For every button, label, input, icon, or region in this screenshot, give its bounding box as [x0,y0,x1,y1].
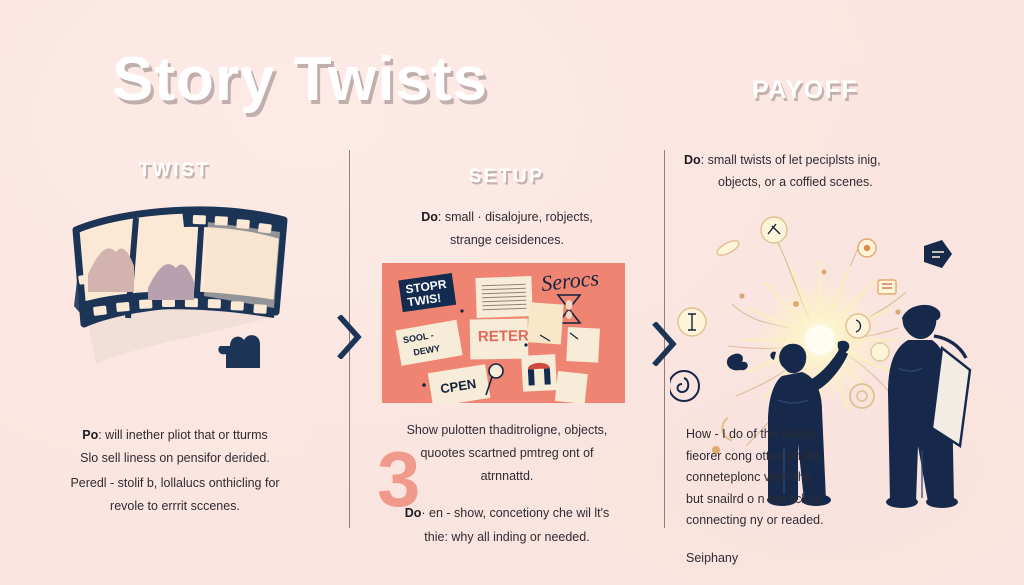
svg-text:RETER: RETER [478,327,529,345]
payoff-line-4: but snailrd o n the sclurs [686,492,822,506]
infographic-poster: Story Twists PAYOFF TWIST [0,0,1024,585]
twist-line-3: Peredl - stolif b, lollalucs onthicling … [20,472,330,495]
column-header-twist: TWIST [0,160,349,182]
twist-body-text: Po: will inether pliot that or tturms Sl… [20,424,330,519]
payoff-line-3: conneteplonc vider the [686,470,812,484]
column-header-setup: SETUP [349,166,664,188]
setup-p2-line-2: thie: why all inding or needed. [424,530,589,544]
setup-p1-line-3: atrnnattd. [481,469,534,483]
payoff-line-5: connecting ny or readed. [686,513,824,527]
payoff-line-1: How - I do of the allcnq [686,427,814,441]
setup-p2-lead: Do [405,506,422,520]
column-setup: SETUP Do: small · disalojure, robjects, … [349,0,664,585]
payoff-line-2: fieorer cong ottue on the, [686,449,825,463]
payoff-signature: Seiphany [686,548,986,570]
setup-p1-line-2: quootes scartned pmtreg ont of [420,446,593,460]
payoff-do-lead: Do [684,153,701,167]
setup-p2-line-1: · en - show, concetiony che wil lt's [421,506,609,520]
column-payoff: Do: small twists of let peciplsts inig, … [664,0,1024,585]
setup-do-lead: Do [421,210,438,224]
setup-do-line-2: strange ceisidences. [450,233,564,247]
column-twist: TWIST [0,0,349,585]
twist-line-4: revole to errrit sccenes. [20,495,330,518]
setup-p1-line-1: Show pulotten thaditroligne, objects, [407,423,608,437]
corkboard-collage-icon: STOPR TWIS! Serocs [382,263,625,403]
payoff-do-text: Do: small twists of let peciplsts inig, … [684,150,1014,194]
setup-do-line-1: : small · disalojure, robjects, [438,210,593,224]
twist-lead: Po [82,428,98,442]
payoff-do-line-2: objects, or a coffied scenes. [684,172,1014,194]
setup-body-text: Show pulotten thaditroligne, objects, qu… [355,419,659,549]
payoff-body-text: How - I do of the allcnq fieorer cong ot… [686,424,986,569]
payoff-do-line-1: : small twists of let peciplsts inig, [701,153,881,167]
twist-line-1: : will inether pliot that or tturms [98,428,268,442]
filmstrip-icon [62,196,294,386]
twist-line-2: Slo sell liness on pensifor derided. [20,447,330,470]
setup-do-text: Do: small · disalojure, robjects, strang… [357,206,657,252]
